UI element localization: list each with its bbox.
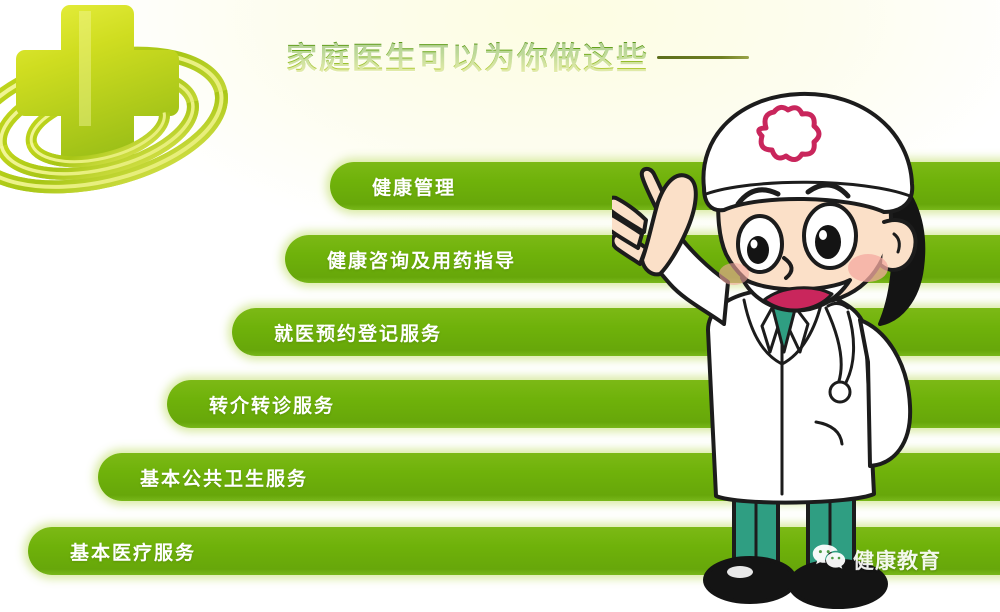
wechat-icon <box>812 543 846 576</box>
title-dash-rule <box>657 56 749 59</box>
cross-shape <box>16 5 179 166</box>
service-bar-label: 健康管理 <box>372 173 456 200</box>
service-bar-label: 就医预约登记服务 <box>274 319 442 346</box>
watermark-text: 健康教育 <box>853 545 941 575</box>
poster-title-text: 家庭医生可以为你做这些 <box>286 33 649 78</box>
cartoon-doctor-illustration <box>612 62 1000 612</box>
medical-cross-orbit-logo <box>0 0 308 242</box>
service-bar-label: 基本医疗服务 <box>70 538 196 565</box>
doctor-svg <box>612 62 1000 612</box>
service-bar-label: 基本公共卫生服务 <box>140 464 308 491</box>
service-bar-label: 转介转诊服务 <box>209 391 335 418</box>
logo-svg <box>0 0 308 242</box>
service-bar-label: 健康咨询及用药指导 <box>327 246 516 273</box>
infographic-poster: 家庭医生可以为你做这些 健康管理 健康咨询及用药指导 就医预约登记服务 转介转诊… <box>0 0 1000 612</box>
poster-title: 家庭医生可以为你做这些 <box>286 33 749 78</box>
watermark: 健康教育 <box>812 543 941 576</box>
